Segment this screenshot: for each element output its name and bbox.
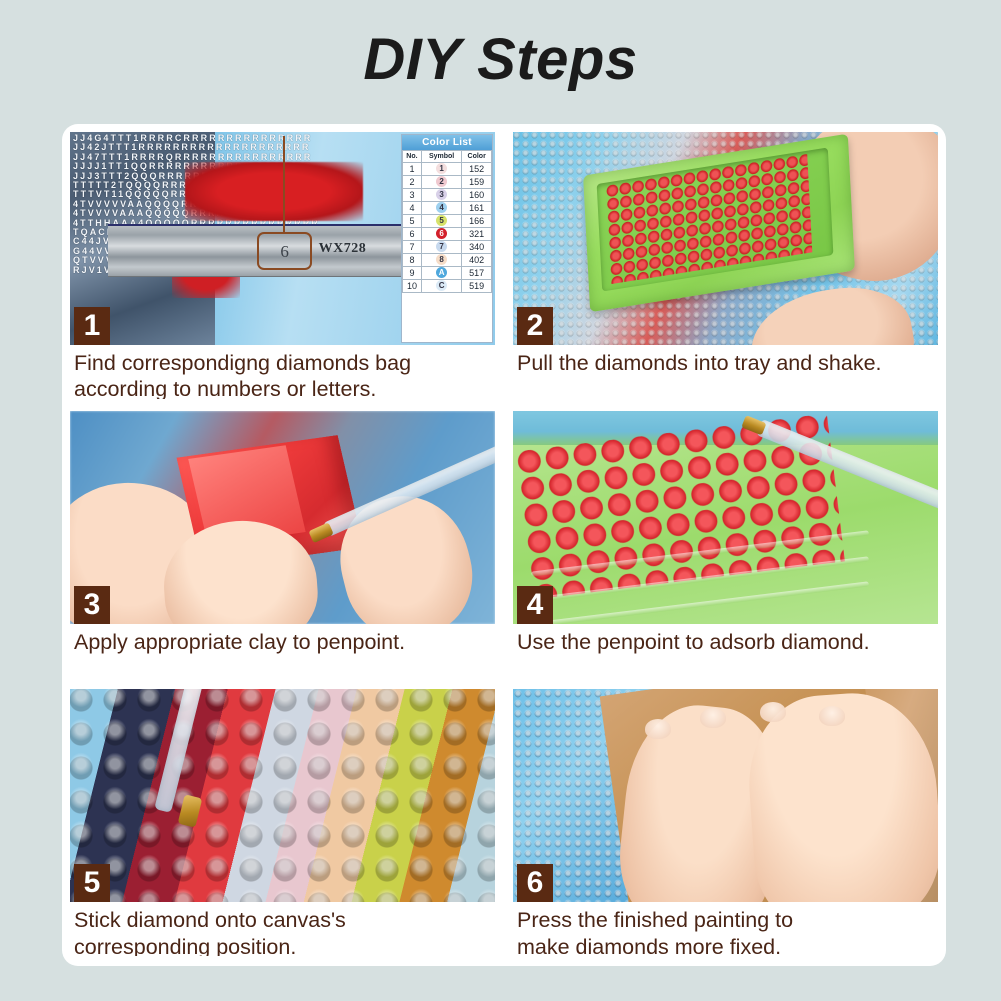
- fingernail-2: [700, 708, 726, 728]
- step-badge-1: 1: [74, 307, 110, 345]
- page-title: DIY Steps: [0, 26, 1001, 93]
- symbol-swatch: 3: [436, 189, 447, 200]
- color-list-title: Color List: [402, 135, 492, 150]
- color-row-color: 517: [462, 266, 492, 279]
- col-color: Color: [462, 151, 492, 163]
- color-row-color: 402: [462, 253, 492, 266]
- color-row-color: 519: [462, 279, 492, 292]
- color-list-body: 1115222159331604416155166663217734088402…: [403, 162, 492, 292]
- color-list-row: 11152: [403, 162, 492, 175]
- color-row-symbol: 3: [421, 188, 461, 201]
- color-list-header-row: No. Symbol Color: [403, 151, 492, 163]
- color-row-symbol: 8: [421, 253, 461, 266]
- color-list-row: 10C519: [403, 279, 492, 292]
- color-row-no: 5: [403, 214, 422, 227]
- fingernail-3: [760, 702, 786, 722]
- symbol-swatch: 1: [436, 163, 447, 174]
- color-row-no: 2: [403, 175, 422, 188]
- color-list-table: Color List No. Symbol Color 111522215933…: [401, 134, 493, 343]
- step-caption-2: Pull the diamonds into tray and shake.: [513, 345, 938, 376]
- color-row-symbol: 4: [421, 201, 461, 214]
- color-row-symbol: 1: [421, 162, 461, 175]
- color-row-no: 1: [403, 162, 422, 175]
- color-list-grid: No. Symbol Color 11152221593316044161551…: [402, 150, 492, 293]
- symbol-swatch: 5: [436, 215, 447, 226]
- step-badge-3: 3: [74, 586, 110, 624]
- color-list-row: 88402: [403, 253, 492, 266]
- symbol-swatch: C: [436, 280, 447, 291]
- step-panel-1: JJ4G4TTT1RRRRCRRRRRRRRRRRRRRRJJ42JTTT1RR…: [70, 132, 495, 399]
- color-list-row: 22159: [403, 175, 492, 188]
- color-list-row: 77340: [403, 240, 492, 253]
- col-no: No.: [403, 151, 422, 163]
- color-row-color: 161: [462, 201, 492, 214]
- color-row-no: 7: [403, 240, 422, 253]
- symbol-swatch: 2: [436, 176, 447, 187]
- bag-number: 6: [257, 234, 312, 270]
- symbol-swatch: 4: [436, 202, 447, 213]
- fingernail-4: [819, 706, 845, 726]
- step-panel-3: 3 Apply appropriate clay to penpoint.: [70, 411, 495, 678]
- step-caption-4: Use the penpoint to adsorb diamond.: [513, 624, 938, 655]
- color-list-row: 44161: [403, 201, 492, 214]
- color-row-no: 8: [403, 253, 422, 266]
- color-row-symbol: 6: [421, 227, 461, 240]
- color-row-color: 340: [462, 240, 492, 253]
- color-row-symbol: 5: [421, 214, 461, 227]
- color-row-color: 152: [462, 162, 492, 175]
- step-caption-6: Press the finished painting to make diam…: [513, 902, 938, 956]
- diy-steps-page: DIY Steps JJ4G4TTT1RRRRCRRRRRRRRRRRRRRRJ…: [0, 0, 1001, 1001]
- symbol-swatch: 8: [436, 254, 447, 265]
- steps-grid: JJ4G4TTT1RRRRCRRRRRRRRRRRRRRRJJ42JTTT1RR…: [70, 132, 938, 956]
- color-row-color: 159: [462, 175, 492, 188]
- color-row-no: 10: [403, 279, 422, 292]
- bead-texture: [70, 689, 495, 902]
- color-row-color: 166: [462, 214, 492, 227]
- color-row-symbol: 7: [421, 240, 461, 253]
- step-badge-4: 4: [517, 586, 553, 624]
- step-panel-2: 2 Pull the diamonds into tray and shake.: [513, 132, 938, 399]
- step-photo-1: JJ4G4TTT1RRRRCRRRRRRRRRRRRRRRJJ42JTTT1RR…: [70, 132, 495, 345]
- symbol-swatch: 6: [436, 228, 447, 239]
- step-photo-5: 5: [70, 689, 495, 902]
- color-row-no: 4: [403, 201, 422, 214]
- step-badge-5: 5: [74, 864, 110, 902]
- step-caption-1: Find correspondigng diamonds bag accordi…: [70, 345, 495, 399]
- color-list-row: 9A517: [403, 266, 492, 279]
- color-row-symbol: 2: [421, 175, 461, 188]
- symbol-swatch: A: [436, 267, 447, 278]
- color-row-symbol: C: [421, 279, 461, 292]
- color-row-no: 3: [403, 188, 422, 201]
- callout-line: [283, 136, 285, 232]
- step-photo-3: 3: [70, 411, 495, 624]
- color-list-row: 66321: [403, 227, 492, 240]
- color-row-color: 321: [462, 227, 492, 240]
- step-panel-4: 4 Use the penpoint to adsorb diamond.: [513, 411, 938, 678]
- fingernail-1: [645, 719, 671, 739]
- step-badge-6: 6: [517, 864, 553, 902]
- step-photo-2: 2: [513, 132, 938, 345]
- col-symbol: Symbol: [421, 151, 461, 163]
- step-badge-2: 2: [517, 307, 553, 345]
- steps-card: JJ4G4TTT1RRRRCRRRRRRRRRRRRRRRJJ42JTTT1RR…: [62, 124, 946, 966]
- step-caption-5: Stick diamond onto canvas's correspondin…: [70, 902, 495, 956]
- step-photo-4: 4: [513, 411, 938, 624]
- step-caption-3: Apply appropriate clay to penpoint.: [70, 624, 495, 655]
- step-photo-6: e Book 6: [513, 689, 938, 902]
- color-list-row: 33160: [403, 188, 492, 201]
- color-row-symbol: A: [421, 266, 461, 279]
- color-row-color: 160: [462, 188, 492, 201]
- color-list-row: 55166: [403, 214, 492, 227]
- step-panel-5: 5 Stick diamond onto canvas's correspond…: [70, 689, 495, 956]
- step-panel-6: e Book 6 Press the finished painting to …: [513, 689, 938, 956]
- color-row-no: 9: [403, 266, 422, 279]
- bag-code: WX728: [319, 241, 367, 257]
- symbol-swatch: 7: [436, 241, 447, 252]
- color-row-no: 6: [403, 227, 422, 240]
- red-diamonds-area: [185, 162, 364, 222]
